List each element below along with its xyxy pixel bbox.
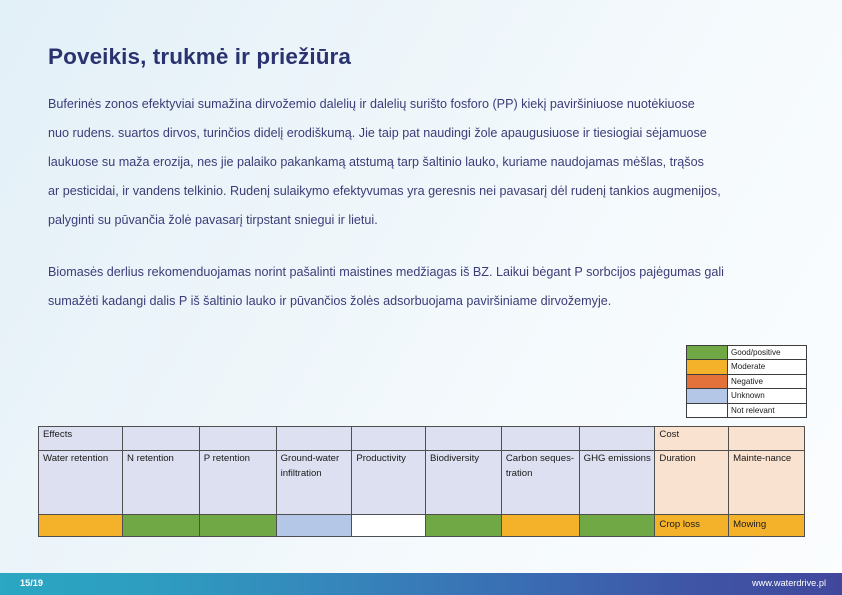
matrix-cell-carbon-sequestration [501,515,579,537]
matrix-cell-biodiversity [426,515,502,537]
legend: Good/positive Moderate Negative Unknown … [686,345,807,418]
paragraph-1-line-3: laukuose su maža erozija, nes jie palaik… [48,148,808,177]
page-title: Poveikis, trukmė ir priežiūra [48,44,351,70]
paragraph-1: Buferinės zonos efektyviai sumažina dirv… [48,90,808,235]
legend-label-not-relevant: Not relevant [728,404,806,417]
matrix-cell-productivity [352,515,426,537]
legend-item-not-relevant: Not relevant [687,404,806,417]
legend-label-moderate: Moderate [728,360,806,373]
legend-label-unknown: Unknown [728,389,806,402]
legend-item-good: Good/positive [687,346,806,360]
matrix-header-n-retention: N retention [122,451,199,515]
matrix-group-effects: Effects [39,427,123,451]
matrix-rating-row: Crop loss Mowing [39,515,805,537]
legend-item-moderate: Moderate [687,360,806,374]
matrix-group-spacer-1 [122,427,199,451]
matrix-header-row: Water retention N retention P retention … [39,451,805,515]
slide-footer: 15/19 www.waterdrive.pl [0,573,842,595]
paragraph-2-line-2: sumažėti kadangi dalis P iš šaltinio lau… [48,287,818,316]
matrix-group-spacer-3 [276,427,352,451]
effects-matrix-table: Effects Cost Water retention N retention… [38,426,805,537]
legend-item-negative: Negative [687,375,806,389]
legend-swatch-negative [687,375,728,388]
matrix-cell-maintenance: Mowing [729,515,805,537]
matrix-header-p-retention: P retention [199,451,276,515]
matrix-header-water-retention: Water retention [39,451,123,515]
paragraph-2-line-1: Biomasės derlius rekomenduojamas norint … [48,258,818,287]
matrix-header-duration: Duration [655,451,729,515]
legend-swatch-moderate [687,360,728,373]
matrix-group-cost-spacer [729,427,805,451]
paragraph-1-line-5: palyginti su pūvančia žolė pavasarį tirp… [48,206,808,235]
paragraph-2: Biomasės derlius rekomenduojamas norint … [48,258,818,316]
slide-number: 15/19 [20,578,43,588]
matrix-group-spacer-6 [501,427,579,451]
matrix-cell-duration: Crop loss [655,515,729,537]
legend-label-good: Good/positive [728,346,806,359]
slide-canvas: Poveikis, trukmė ir priežiūra Buferinės … [0,0,842,595]
matrix-header-productivity: Productivity [352,451,426,515]
matrix-cell-ground-water-infiltration [276,515,352,537]
matrix-header-maintenance: Mainte-nance [729,451,805,515]
legend-swatch-unknown [687,389,728,402]
matrix-group-row: Effects Cost [39,427,805,451]
footer-url[interactable]: www.waterdrive.pl [752,578,826,588]
legend-swatch-not-relevant [687,404,728,417]
matrix-cell-water-retention [39,515,123,537]
matrix-header-ghg-emissions: GHG emissions [579,451,655,515]
paragraph-1-line-4: ar pesticidai, ir vandens telkinio. Rude… [48,177,808,206]
matrix-group-cost: Cost [655,427,729,451]
matrix-cell-p-retention [199,515,276,537]
legend-item-unknown: Unknown [687,389,806,403]
matrix-group-spacer-7 [579,427,655,451]
matrix-header-biodiversity: Biodiversity [426,451,502,515]
matrix-cell-n-retention [122,515,199,537]
matrix-group-spacer-4 [352,427,426,451]
matrix-group-spacer-5 [426,427,502,451]
paragraph-1-line-2: nuo rudens. suartos dirvos, turinčios di… [48,119,808,148]
legend-label-negative: Negative [728,375,806,388]
legend-swatch-good [687,346,728,359]
matrix-header-ground-water-infiltration: Ground-water infiltration [276,451,352,515]
matrix-group-spacer-2 [199,427,276,451]
matrix-cell-ghg-emissions [579,515,655,537]
paragraph-1-line-1: Buferinės zonos efektyviai sumažina dirv… [48,90,808,119]
matrix-header-carbon-sequestration: Carbon seques-tration [501,451,579,515]
